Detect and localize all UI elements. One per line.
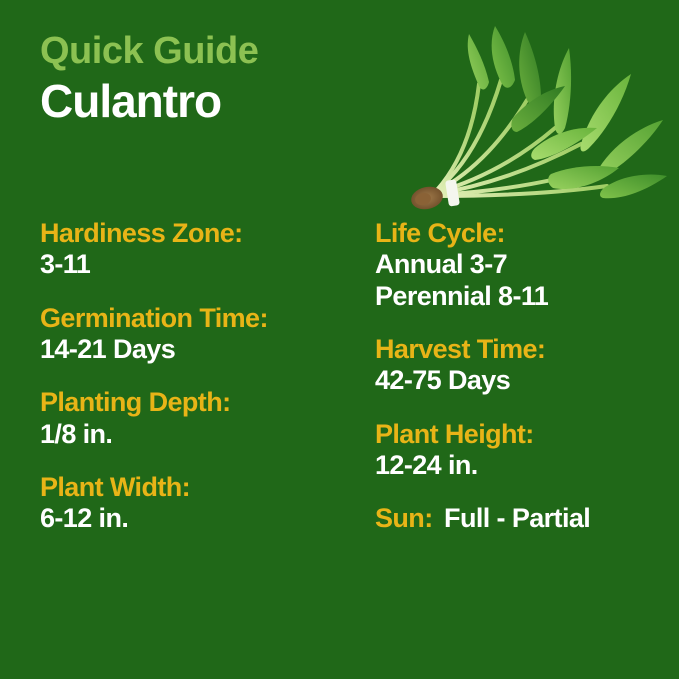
entry-value: 6-12 in. — [40, 503, 360, 534]
entry-germination-time: Germination Time: 14-21 Days — [40, 303, 360, 366]
quick-guide-card: Quick Guide Culantro — [0, 0, 679, 679]
entry-label: Germination Time: — [40, 303, 360, 334]
entry-harvest-time: Harvest Time: 42-75 Days — [375, 334, 675, 397]
header: Quick Guide Culantro — [40, 32, 258, 127]
entry-label: Plant Height: — [375, 419, 675, 450]
entry-value-secondary: Perennial 8-11 — [375, 281, 675, 312]
entry-value: Annual 3-7 — [375, 249, 675, 280]
entry-value: 14-21 Days — [40, 334, 360, 365]
entry-label: Life Cycle: — [375, 218, 675, 249]
entry-life-cycle: Life Cycle: Annual 3-7 Perennial 8-11 — [375, 218, 675, 312]
right-column: Life Cycle: Annual 3-7 Perennial 8-11 Ha… — [375, 218, 675, 535]
entry-value: 42-75 Days — [375, 365, 675, 396]
entry-label: Harvest Time: — [375, 334, 675, 365]
kicker-text: Quick Guide — [40, 32, 258, 72]
entry-plant-width: Plant Width: 6-12 in. — [40, 472, 360, 535]
entry-label: Plant Width: — [40, 472, 360, 503]
entry-label: Planting Depth: — [40, 387, 360, 418]
entry-sun: Sun: Full - Partial — [375, 503, 675, 534]
culantro-bunch-illustration — [385, 8, 675, 220]
entry-label: Sun: — [375, 503, 433, 533]
left-column: Hardiness Zone: 3-11 Germination Time: 1… — [40, 218, 360, 535]
entry-plant-height: Plant Height: 12-24 in. — [375, 419, 675, 482]
entry-value: 3-11 — [40, 249, 360, 280]
page-title: Culantro — [40, 76, 258, 128]
entry-value: Full - Partial — [444, 503, 590, 533]
entry-value: 1/8 in. — [40, 419, 360, 450]
entry-planting-depth: Planting Depth: 1/8 in. — [40, 387, 360, 450]
entry-label: Hardiness Zone: — [40, 218, 360, 249]
entry-value: 12-24 in. — [375, 450, 675, 481]
entry-hardiness-zone: Hardiness Zone: 3-11 — [40, 218, 360, 281]
